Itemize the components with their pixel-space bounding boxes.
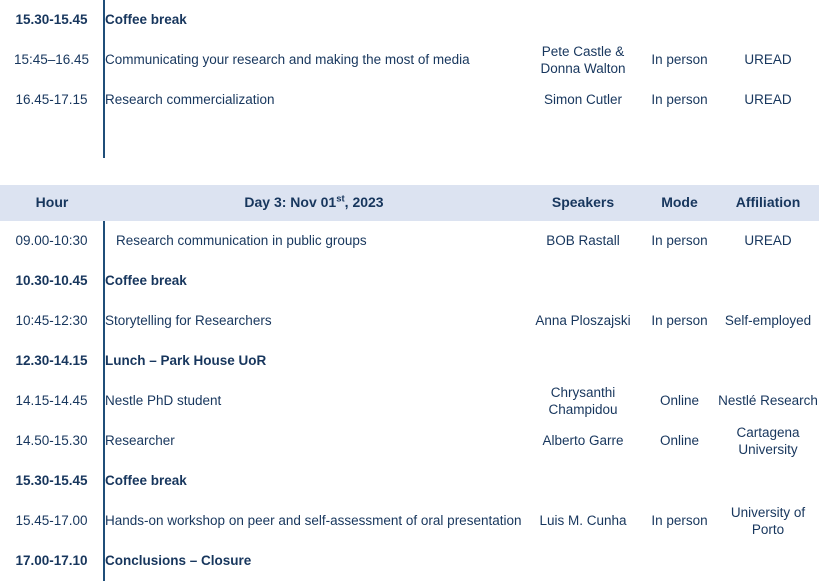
- cell-affiliation: UREAD: [717, 40, 819, 80]
- table-row: 15.30-15.45 Coffee break: [0, 461, 819, 501]
- cell-hour: 09.00-10:30: [0, 221, 104, 261]
- table-body-top: 15.30-15.45 Coffee break 15:45–16.45 Com…: [0, 0, 819, 158]
- cell-mode: In person: [642, 301, 717, 341]
- table-row: 17.00-17.10 Conclusions – Closure: [0, 541, 819, 581]
- day-label-prefix: Day 3: Nov 01: [244, 194, 336, 210]
- table-row: 10.30-10.45 Coffee break: [0, 261, 819, 301]
- cell-hour-empty: [0, 120, 104, 158]
- day-label-suffix: , 2023: [345, 194, 384, 210]
- cell-activity: Storytelling for Researchers: [104, 301, 524, 341]
- cell-mode: [642, 461, 717, 501]
- cell-speaker-empty: [524, 120, 642, 158]
- day-label-ordinal: st: [336, 193, 344, 204]
- cell-activity: Research communication in public groups: [104, 221, 524, 261]
- cell-mode: [642, 261, 717, 301]
- cell-hour: 14.50-15.30: [0, 421, 104, 461]
- header-row: Hour Day 3: Nov 01st, 2023 Speakers Mode…: [0, 185, 819, 221]
- cell-mode: [642, 0, 717, 40]
- cell-activity: Hands-on workshop on peer and self-asses…: [104, 501, 524, 541]
- cell-affiliation: [717, 0, 819, 40]
- cell-mode: [642, 541, 717, 581]
- cell-activity: Nestle PhD student: [104, 381, 524, 421]
- cell-activity: Coffee break: [104, 0, 524, 40]
- table-row: 09.00-10:30 Research communication in pu…: [0, 221, 819, 261]
- table-row: 14.15-14.45 Nestle PhD student Chrysanth…: [0, 381, 819, 421]
- cell-affiliation: [717, 341, 819, 381]
- column-header-day: Day 3: Nov 01st, 2023: [104, 185, 524, 221]
- schedule-table-day3: Hour Day 3: Nov 01st, 2023 Speakers Mode…: [0, 185, 819, 581]
- cell-activity: Coffee break: [104, 261, 524, 301]
- cell-affiliation-empty: [717, 120, 819, 158]
- cell-activity-empty: [104, 120, 524, 158]
- cell-speaker: Alberto Garre: [524, 421, 642, 461]
- cell-mode: In person: [642, 80, 717, 120]
- cell-activity: Lunch – Park House UoR: [104, 341, 524, 381]
- cell-mode: In person: [642, 221, 717, 261]
- table-row: 12.30-14.15 Lunch – Park House UoR: [0, 341, 819, 381]
- cell-speaker: Anna Ploszajski: [524, 301, 642, 341]
- cell-speaker: Luis M. Cunha: [524, 501, 642, 541]
- cell-affiliation: Nestlé Research: [717, 381, 819, 421]
- table-spacer: [0, 158, 819, 185]
- column-header-speakers: Speakers: [524, 185, 642, 221]
- cell-affiliation: Cartagena University: [717, 421, 819, 461]
- cell-affiliation: University of Porto: [717, 501, 819, 541]
- cell-mode: In person: [642, 501, 717, 541]
- cell-hour: 15.30-15.45: [0, 0, 104, 40]
- table-row: 16.45-17.15 Research commercialization S…: [0, 80, 819, 120]
- cell-affiliation: UREAD: [717, 221, 819, 261]
- cell-mode: Online: [642, 381, 717, 421]
- cell-hour: 14.15-14.45: [0, 381, 104, 421]
- cell-hour: 10:45-12:30: [0, 301, 104, 341]
- cell-hour: 10.30-10.45: [0, 261, 104, 301]
- cell-affiliation: UREAD: [717, 80, 819, 120]
- cell-speaker: [524, 0, 642, 40]
- table-row-trailing-rule: [0, 120, 819, 158]
- cell-mode: Online: [642, 421, 717, 461]
- cell-hour: 17.00-17.10: [0, 541, 104, 581]
- table-body-day3: 09.00-10:30 Research communication in pu…: [0, 221, 819, 581]
- cell-affiliation: Self-employed: [717, 301, 819, 341]
- cell-activity: Coffee break: [104, 461, 524, 501]
- table-row: 14.50-15.30 Researcher Alberto Garre Onl…: [0, 421, 819, 461]
- cell-activity: Communicating your research and making t…: [104, 40, 524, 80]
- schedule-table-day2-continued: 15.30-15.45 Coffee break 15:45–16.45 Com…: [0, 0, 819, 158]
- cell-mode: In person: [642, 40, 717, 80]
- cell-speaker: Chrysanthi Champidou: [524, 381, 642, 421]
- cell-hour: 15.45-17.00: [0, 501, 104, 541]
- table-row: 15:45–16.45 Communicating your research …: [0, 40, 819, 80]
- cell-activity: Research commercialization: [104, 80, 524, 120]
- cell-hour: 12.30-14.15: [0, 341, 104, 381]
- cell-hour: 16.45-17.15: [0, 80, 104, 120]
- cell-hour: 15:45–16.45: [0, 40, 104, 80]
- cell-activity: Researcher: [104, 421, 524, 461]
- cell-mode: [642, 341, 717, 381]
- table-header: Hour Day 3: Nov 01st, 2023 Speakers Mode…: [0, 185, 819, 221]
- cell-speaker: BOB Rastall: [524, 221, 642, 261]
- cell-speaker: [524, 341, 642, 381]
- column-header-mode: Mode: [642, 185, 717, 221]
- cell-speaker: [524, 541, 642, 581]
- column-header-affiliation: Affiliation: [717, 185, 819, 221]
- column-header-hour: Hour: [0, 185, 104, 221]
- cell-hour: 15.30-15.45: [0, 461, 104, 501]
- cell-speaker: [524, 261, 642, 301]
- table-row: 10:45-12:30 Storytelling for Researchers…: [0, 301, 819, 341]
- cell-affiliation: [717, 541, 819, 581]
- cell-mode-empty: [642, 120, 717, 158]
- cell-speaker: [524, 461, 642, 501]
- cell-affiliation: [717, 261, 819, 301]
- cell-speaker: Pete Castle & Donna Walton: [524, 40, 642, 80]
- table-row: 15.30-15.45 Coffee break: [0, 0, 819, 40]
- table-row: 15.45-17.00 Hands-on workshop on peer an…: [0, 501, 819, 541]
- cell-speaker: Simon Cutler: [524, 80, 642, 120]
- cell-affiliation: [717, 461, 819, 501]
- cell-activity: Conclusions – Closure: [104, 541, 524, 581]
